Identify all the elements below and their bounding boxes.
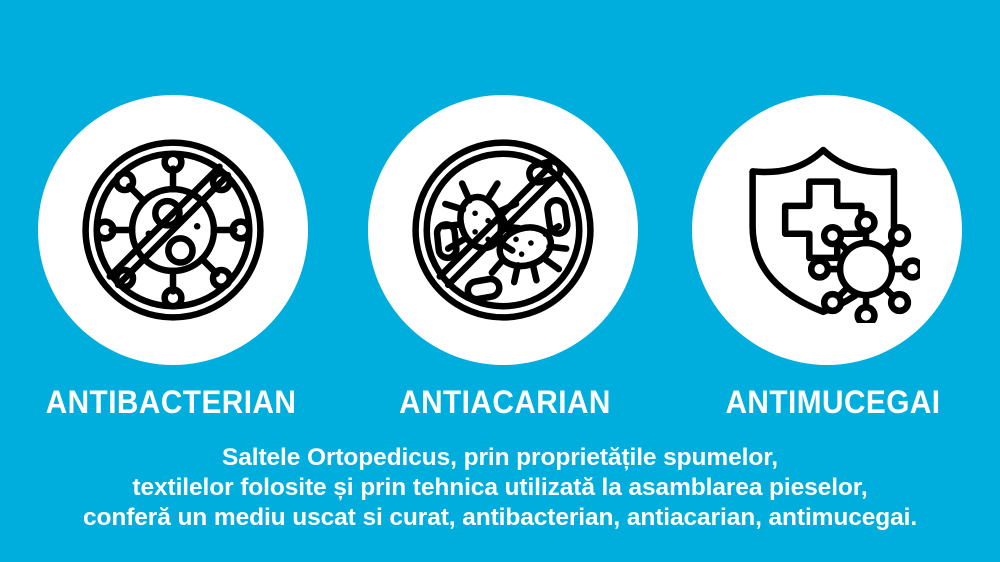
feature-icon-badge-antimould [692, 95, 962, 365]
feature-icons-row [0, 95, 1000, 365]
feature-label-antimould: ANTIMUCEGAI [679, 381, 988, 423]
description-line-3: conferă un mediu uscat si curat, antibac… [0, 503, 1000, 533]
feature-label-antibacterial: ANTIBACTERIAN [12, 381, 330, 423]
no-bacteria-icon [80, 137, 266, 323]
feature-labels-row: ANTIBACTERIAN ANTIACARIAN ANTIMUCEGAI [0, 381, 1000, 423]
infographic-banner: ANTIBACTERIAN ANTIACARIAN ANTIMUCEGAI Sa… [0, 0, 1000, 562]
description-line-2: textilelor folosite și prin tehnica util… [0, 473, 1000, 503]
description-paragraph: Saltele Ortopedicus, prin proprietățile … [0, 443, 1000, 533]
no-dust-mite-icon [410, 137, 596, 323]
feature-icon-badge-antibacterial [38, 95, 308, 365]
shield-cross-mould-icon [734, 137, 920, 323]
feature-label-antimite: ANTIACARIAN [347, 381, 663, 423]
description-line-1: Saltele Ortopedicus, prin proprietățile … [0, 443, 1000, 473]
feature-icon-badge-antimite [368, 95, 638, 365]
